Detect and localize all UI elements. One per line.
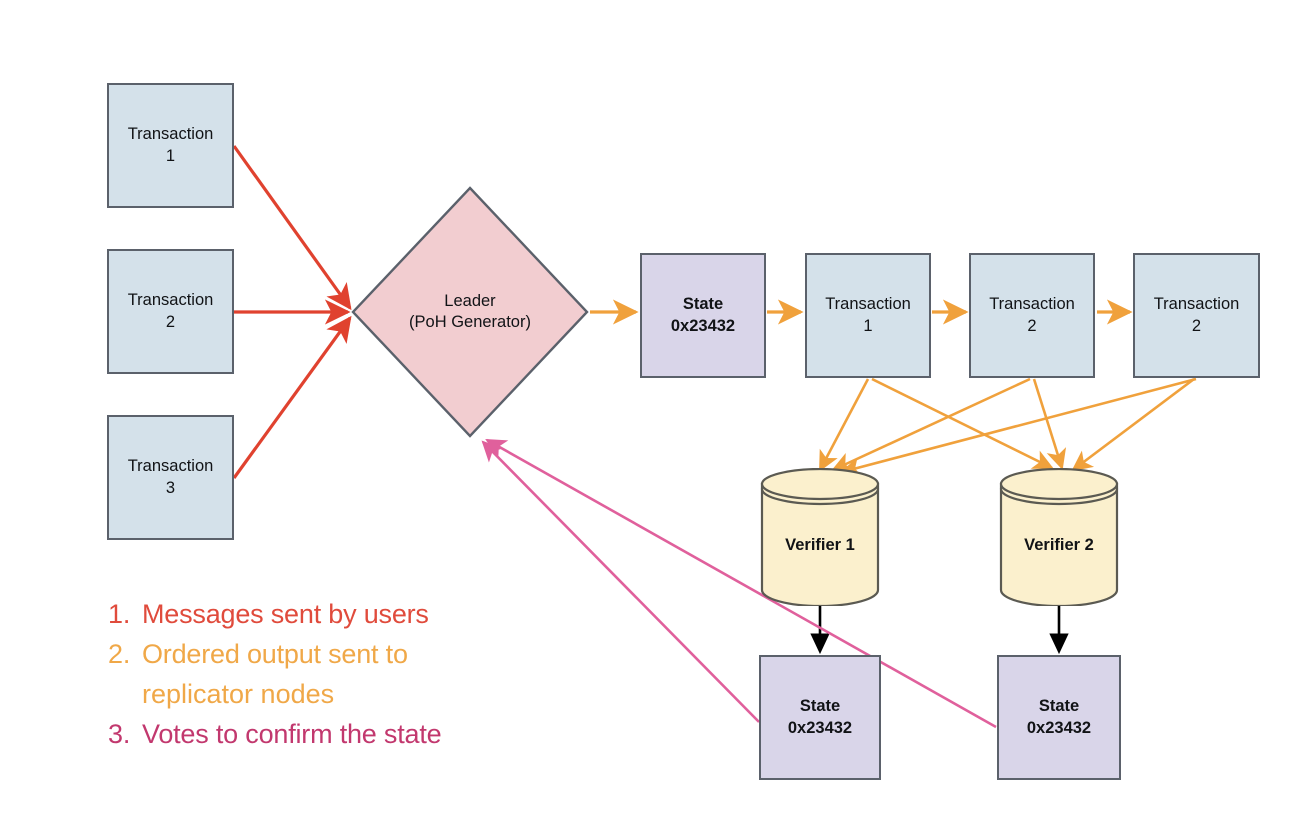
output-state-1-line1: State bbox=[800, 697, 840, 715]
legend-item-2-text: Ordered output sent to bbox=[142, 634, 578, 674]
verifier-2-node[interactable]: Verifier 2 bbox=[999, 468, 1119, 606]
transaction-2-box[interactable]: Transaction 2 bbox=[107, 249, 234, 374]
edge-group-ordered-output-to-verifiers bbox=[820, 379, 1196, 472]
edge-ordered-transaction-3-to-verifier-1 bbox=[842, 379, 1196, 472]
edge-transaction-1-to-leader bbox=[234, 146, 350, 308]
diagram-canvas: Transaction 1 Transaction 2 Transaction … bbox=[0, 0, 1306, 817]
output-state-2-line1: State bbox=[1039, 697, 1079, 715]
output-state-2-line2: 0x23432 bbox=[1027, 719, 1091, 737]
legend-item-2: 2. Ordered output sent to bbox=[108, 634, 578, 674]
transaction-2-label: Transaction 2 bbox=[128, 290, 214, 332]
legend-item-3: 3. Votes to confirm the state bbox=[108, 714, 578, 754]
legend-item-1-number: 1. bbox=[108, 594, 142, 634]
ordered-transaction-3-line1: Transaction bbox=[1154, 295, 1240, 313]
legend-item-1-text: Messages sent by users bbox=[142, 594, 578, 634]
verifier-2-cylinder-shape bbox=[999, 468, 1119, 606]
ordered-transaction-1-box[interactable]: Transaction 1 bbox=[805, 253, 931, 378]
transaction-1-line2: 1 bbox=[166, 147, 175, 165]
edge-ordered-transaction-1-to-verifier-2 bbox=[872, 379, 1052, 468]
ordered-transaction-2-line2: 2 bbox=[1027, 317, 1036, 335]
state-entry-box[interactable]: State 0x23432 bbox=[640, 253, 766, 378]
leader-diamond-shape bbox=[350, 185, 590, 439]
output-state-2-label: State 0x23432 bbox=[1027, 696, 1091, 738]
state-entry-label: State 0x23432 bbox=[671, 294, 735, 336]
transaction-1-label: Transaction 1 bbox=[128, 124, 214, 166]
edge-group-user-messages bbox=[234, 146, 350, 478]
transaction-2-line1: Transaction bbox=[128, 291, 214, 309]
ordered-transaction-2-box[interactable]: Transaction 2 bbox=[969, 253, 1095, 378]
state-entry-line1: State bbox=[683, 295, 723, 313]
transaction-1-box[interactable]: Transaction 1 bbox=[107, 83, 234, 208]
ordered-transaction-1-line2: 1 bbox=[863, 317, 872, 335]
transaction-3-box[interactable]: Transaction 3 bbox=[107, 415, 234, 540]
leader-node[interactable]: Leader (PoH Generator) bbox=[350, 185, 590, 439]
legend-item-2-continuation: replicator nodes bbox=[108, 674, 578, 714]
transaction-2-line2: 2 bbox=[166, 313, 175, 331]
edge-ordered-transaction-3-to-verifier-2 bbox=[1073, 379, 1194, 470]
edge-ordered-transaction-2-to-verifier-1 bbox=[833, 379, 1030, 470]
verifier-1-cylinder-shape bbox=[760, 468, 880, 606]
verifier-1-node[interactable]: Verifier 1 bbox=[760, 468, 880, 606]
transaction-3-line2: 3 bbox=[166, 479, 175, 497]
transaction-1-line1: Transaction bbox=[128, 125, 214, 143]
ordered-transaction-3-label: Transaction 2 bbox=[1154, 294, 1240, 336]
output-state-1-box[interactable]: State 0x23432 bbox=[759, 655, 881, 780]
ordered-transaction-3-line2: 2 bbox=[1192, 317, 1201, 335]
edge-ordered-transaction-1-to-verifier-1 bbox=[820, 379, 868, 470]
edge-ordered-transaction-2-to-verifier-2 bbox=[1034, 379, 1062, 468]
ordered-transaction-2-label: Transaction 2 bbox=[989, 294, 1075, 336]
edge-transaction-3-to-leader bbox=[234, 318, 350, 478]
edge-group-verifier-to-state bbox=[820, 604, 1059, 651]
output-state-2-box[interactable]: State 0x23432 bbox=[997, 655, 1121, 780]
transaction-3-label: Transaction 3 bbox=[128, 456, 214, 498]
state-entry-line2: 0x23432 bbox=[671, 317, 735, 335]
legend: 1. Messages sent by users 2. Ordered out… bbox=[108, 594, 578, 754]
legend-item-1: 1. Messages sent by users bbox=[108, 594, 578, 634]
output-state-1-label: State 0x23432 bbox=[788, 696, 852, 738]
legend-item-3-number: 3. bbox=[108, 714, 142, 754]
legend-item-3-text: Votes to confirm the state bbox=[142, 714, 578, 754]
ordered-transaction-1-line1: Transaction bbox=[825, 295, 911, 313]
output-state-1-line2: 0x23432 bbox=[788, 719, 852, 737]
ordered-transaction-1-label: Transaction 1 bbox=[825, 294, 911, 336]
transaction-3-line1: Transaction bbox=[128, 457, 214, 475]
legend-item-2-number: 2. bbox=[108, 634, 142, 674]
ordered-transaction-2-line1: Transaction bbox=[989, 295, 1075, 313]
ordered-transaction-3-box[interactable]: Transaction 2 bbox=[1133, 253, 1260, 378]
